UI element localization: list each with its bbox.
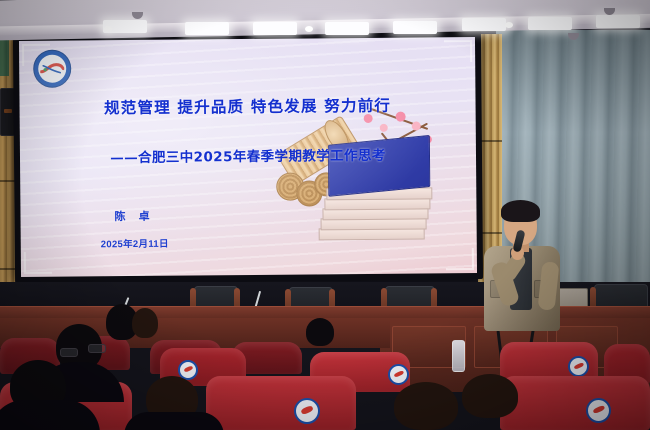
ceiling-light-panel (325, 22, 369, 35)
audience-shoulders (124, 412, 224, 430)
water-bottle (452, 340, 465, 372)
ceiling-downlight (104, 26, 112, 32)
ceiling-downlight (305, 26, 313, 32)
slide-presenter-name: 陈 卓 (54, 207, 214, 224)
seat-school-emblem-icon (568, 356, 589, 377)
slide-corner-ornament (24, 252, 52, 274)
auditorium-photo: 规范管理 提升品质 特色发展 努力前行 ——合肥三中2025年春季学期教学工作思… (0, 0, 650, 430)
ceiling-light-panel (253, 22, 297, 35)
slide-corner-ornament (444, 40, 472, 62)
slide-date: 2025年2月11日 (55, 235, 215, 250)
ceiling-light-panel (528, 17, 572, 30)
ceiling-light-panel (393, 21, 437, 34)
ceiling-light-panel (462, 18, 506, 31)
plum-blossom (380, 124, 388, 132)
seat-school-emblem-icon (294, 398, 320, 424)
hair (501, 200, 540, 222)
presenter-person (482, 196, 570, 331)
ceiling-light-panel (185, 22, 229, 35)
plum-blossom (412, 121, 421, 130)
ceiling-downlight (505, 22, 513, 28)
ceiling-light-panel (596, 15, 640, 28)
wood-seam (0, 268, 16, 270)
projection-screen-frame: 规范管理 提升品质 特色发展 努力前行 ——合肥三中2025年春季学期教学工作思… (13, 31, 483, 283)
school-emblem-icon (33, 50, 71, 88)
slide-illustration (272, 109, 463, 271)
audience-seat (206, 376, 356, 430)
audience-head (394, 382, 458, 430)
projection-screen: 规范管理 提升品质 特色发展 努力前行 ——合肥三中2025年春季学期教学工作思… (19, 37, 477, 277)
seat-school-emblem-icon (388, 364, 409, 385)
eyeglasses (60, 348, 78, 357)
slide-title: 规范管理 提升品质 特色发展 努力前行 (19, 93, 475, 119)
slide-subtitle: ——合肥三中2025年春季学期教学工作思考 (20, 143, 476, 167)
audience-head (462, 374, 518, 418)
seat-school-emblem-icon (586, 398, 611, 423)
eyeglasses (88, 344, 106, 353)
audience-head (306, 318, 334, 346)
audience-head (132, 308, 158, 338)
audience-seat (500, 376, 650, 430)
